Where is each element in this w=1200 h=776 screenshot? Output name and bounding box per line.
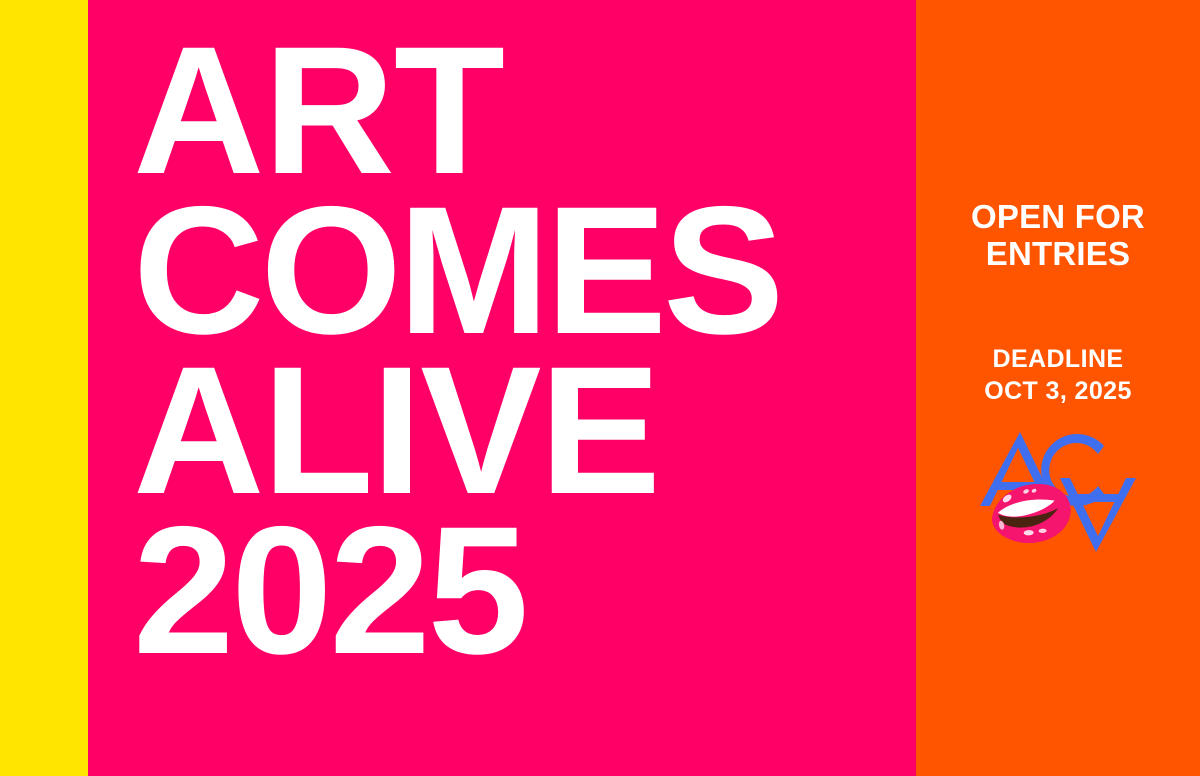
page-title: ART COMES ALIVE 2025 (133, 30, 780, 670)
headline-line-art: ART (133, 30, 780, 190)
aca-logo[interactable] (978, 424, 1138, 554)
open-for-entries-callout: OPEN FOR ENTRIES (916, 198, 1200, 272)
headline-line-comes: COMES (133, 190, 780, 350)
deadline-date: OCT 3, 2025 (916, 375, 1200, 407)
deadline-label: DEADLINE (993, 345, 1124, 373)
main-pink-panel: ART COMES ALIVE 2025 (88, 0, 916, 776)
poster-canvas: ART COMES ALIVE 2025 OPEN FOR ENTRIES DE… (0, 0, 1200, 776)
headline-line-year: 2025 (133, 510, 780, 670)
open-for-entries-line2: ENTRIES (916, 235, 1200, 272)
open-for-entries-line1: OPEN FOR (971, 198, 1145, 235)
right-orange-panel: OPEN FOR ENTRIES DEADLINE OCT 3, 2025 (916, 0, 1200, 776)
left-yellow-stripe (0, 0, 88, 776)
headline-line-alive: ALIVE (133, 350, 780, 510)
deadline-block: DEADLINE OCT 3, 2025 (916, 343, 1200, 407)
